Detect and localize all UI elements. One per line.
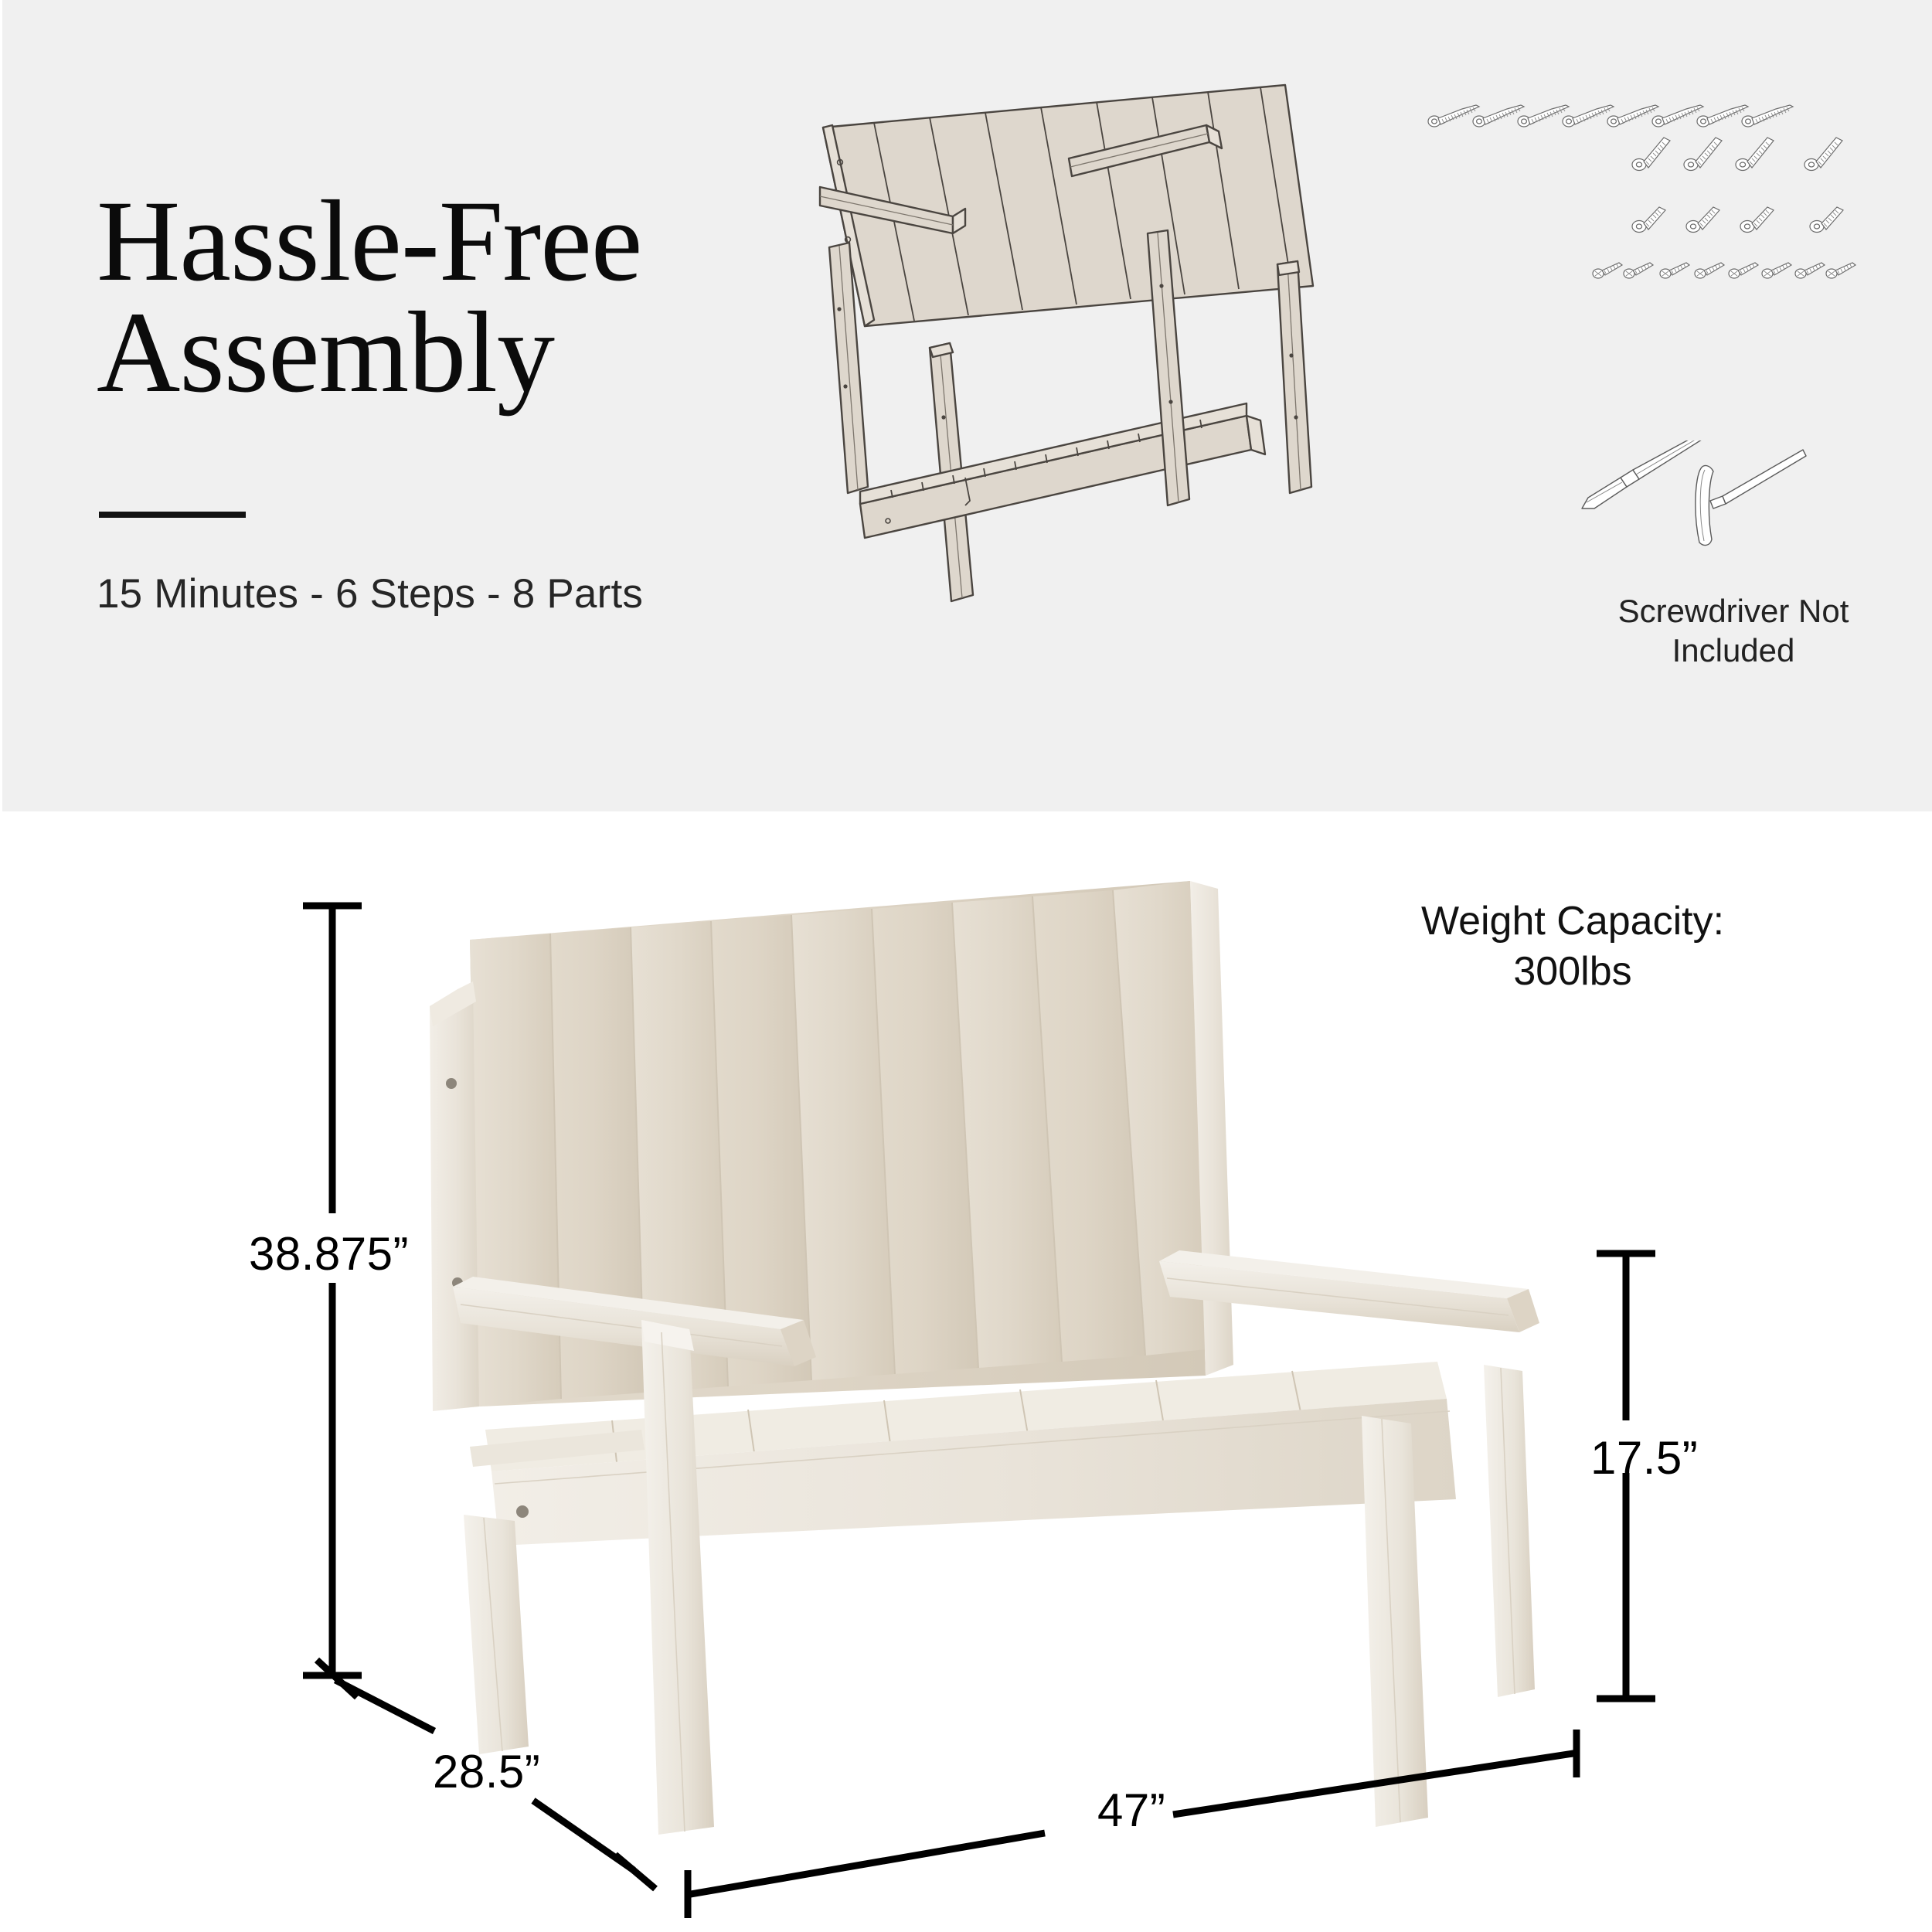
page-title: Hassle-Free Assembly bbox=[97, 185, 869, 408]
bench-rear-right-leg bbox=[1484, 1365, 1535, 1697]
bench-front-left-leg bbox=[641, 1320, 714, 1835]
part-front-right-leg bbox=[1277, 261, 1311, 493]
dimension-label-width: 47” bbox=[1097, 1784, 1165, 1837]
header-panel: Hassle-Free Assembly 15 Minutes - 6 Step… bbox=[2, 0, 1932, 811]
assembly-summary: 15 Minutes - 6 Steps - 8 Parts bbox=[97, 570, 643, 617]
title-block: Hassle-Free Assembly bbox=[97, 185, 869, 408]
hardware-row-medium-bolts bbox=[1632, 138, 1842, 171]
hardware-pack: .hw{fill:#ffffff;stroke:#6b6b6b;stroke-w… bbox=[1424, 62, 1919, 332]
dimension-label-depth: 28.5” bbox=[433, 1745, 540, 1798]
bench-left-rear-post bbox=[430, 981, 479, 1411]
infographic-root: Hassle-Free Assembly 15 Minutes - 6 Step… bbox=[0, 0, 1932, 1932]
hardware-row-short-bolts bbox=[1632, 207, 1843, 233]
flat-screwdriver-icon bbox=[1582, 440, 1710, 509]
tools-caption: Screwdriver Not Included bbox=[1540, 591, 1927, 670]
hardware-row-small-screws bbox=[1593, 263, 1855, 278]
dimension-label-height: 38.875” bbox=[249, 1227, 409, 1281]
tools-illustration: .tl{fill:#ffffff;stroke:#5a5a5a;stroke-w… bbox=[1571, 440, 1896, 595]
t-handle-allen-wrench-icon bbox=[1696, 450, 1806, 545]
part-seat-frame bbox=[860, 403, 1265, 538]
hardware-row-long-screws bbox=[1428, 105, 1793, 127]
bench-rear-left-leg bbox=[464, 1515, 529, 1754]
dimension-label-seat-height: 17.5” bbox=[1590, 1431, 1698, 1485]
bench-product-image: .sep{stroke:#cfc5b4;stroke-width:2;fill:… bbox=[386, 866, 1592, 1862]
title-divider bbox=[99, 512, 246, 518]
